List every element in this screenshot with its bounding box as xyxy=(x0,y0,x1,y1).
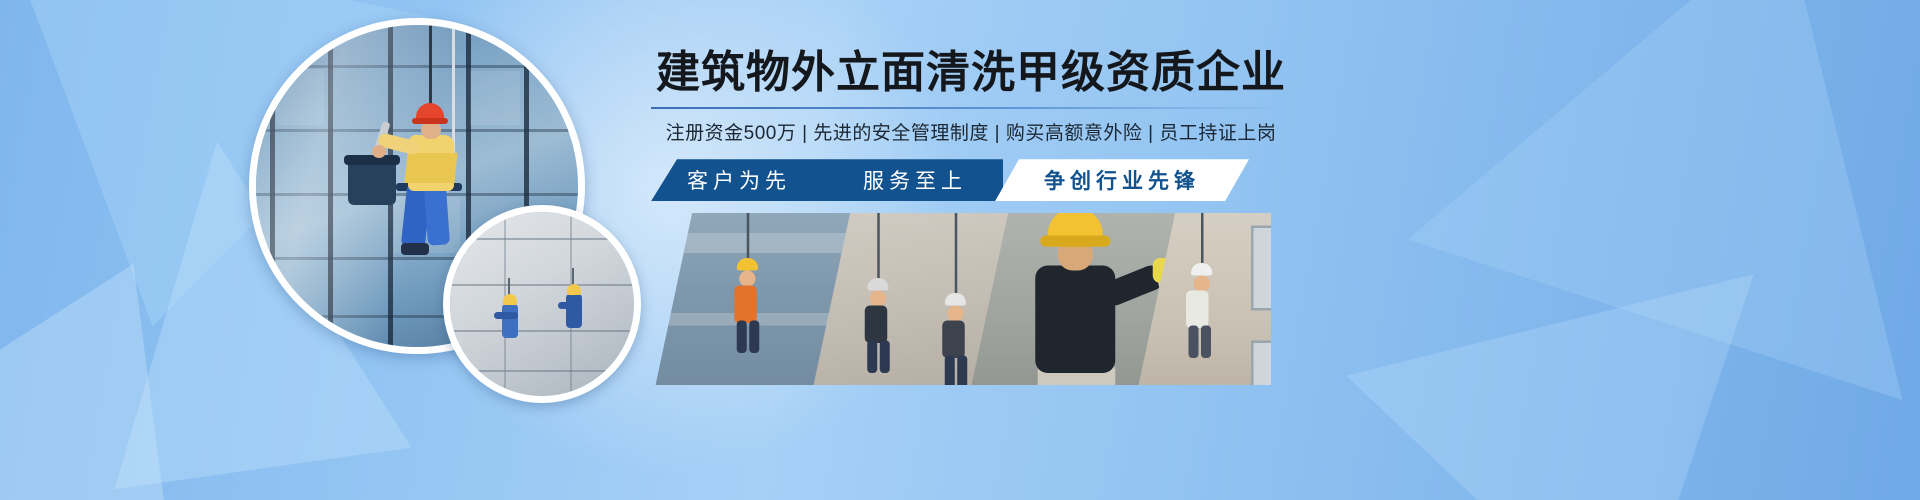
subtitle: 注册资金500万 | 先进的安全管理制度 | 购买高额意外险 | 员工持证上岗 xyxy=(651,118,1291,145)
worker-torso-shade xyxy=(404,153,457,183)
banner-text-block: 建筑物外立面清洗甲级资质企业 注册资金500万 | 先进的安全管理制度 | 购买… xyxy=(651,48,1291,201)
tagline-bar: 客户为先 服务至上 争创行业先锋 xyxy=(651,159,1249,201)
worker-figure xyxy=(566,294,582,328)
tagline-group-primary: 客户为先 服务至上 xyxy=(651,159,1003,201)
promo-banner: 建筑物外立面清洗甲级资质企业 注册资金500万 | 先进的安全管理制度 | 购买… xyxy=(0,0,1920,500)
grey-facade-photo xyxy=(450,212,634,396)
bucket-rim xyxy=(344,155,400,165)
helmet-brim xyxy=(412,118,448,124)
photo-strip xyxy=(651,213,1271,385)
tagline-group-highlight: 争创行业先锋 xyxy=(995,159,1249,201)
facade-illustration xyxy=(450,212,634,396)
page-title: 建筑物外立面清洗甲级资质企业 xyxy=(651,48,1291,97)
tagline-item-2: 服务至上 xyxy=(863,165,967,195)
worker-torso xyxy=(1035,266,1115,374)
helmet-brim xyxy=(1040,236,1110,247)
worker-hand xyxy=(372,145,386,158)
divider xyxy=(651,107,1291,109)
tagline-item-1: 客户为先 xyxy=(687,165,791,195)
worker-figure xyxy=(502,304,518,338)
photo-circle-small xyxy=(443,205,641,403)
worker-shoe xyxy=(401,243,429,255)
decorative-triangle xyxy=(1346,274,1833,500)
tagline-item-3: 争创行业先锋 xyxy=(1044,165,1200,195)
worker-leg xyxy=(424,186,450,245)
bucket xyxy=(348,159,396,205)
